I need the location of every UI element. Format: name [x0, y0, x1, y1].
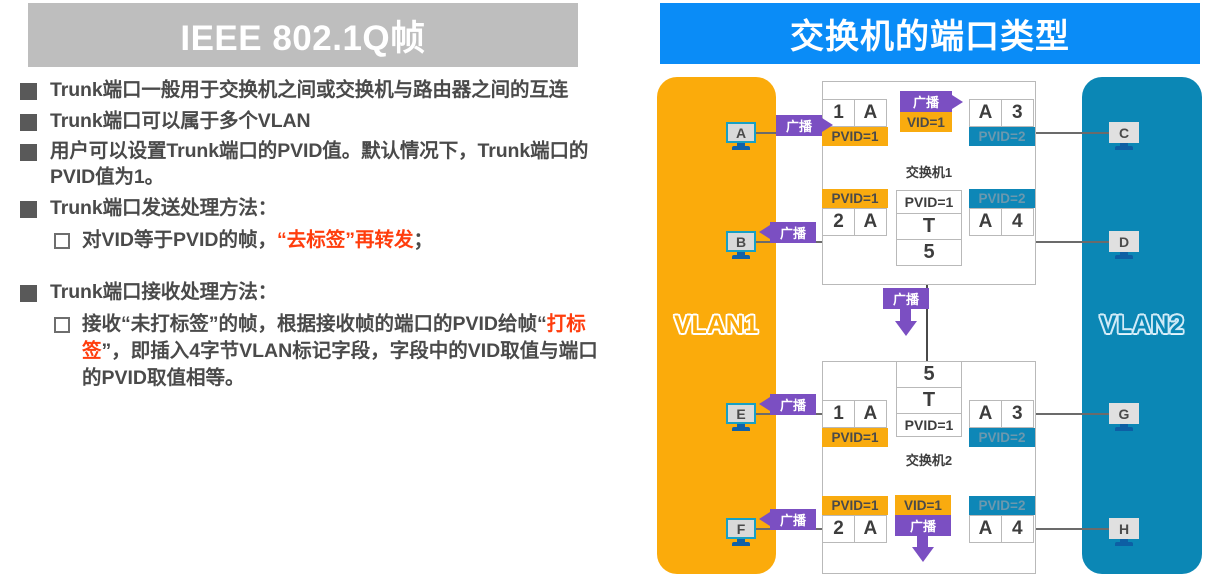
monitor-icon: C: [1109, 122, 1139, 143]
broadcast-tag-e: 广播: [770, 394, 816, 415]
monitor-base: [1115, 542, 1133, 546]
network-diagram: VLAN1 VLAN2 交换机1 1 A: [612, 64, 1212, 583]
broadcast-tag-f: 广播: [770, 509, 816, 530]
right-panel: 交换机的端口类型 VLAN1 VLAN2 交换机1: [612, 0, 1212, 583]
port-cell: 1: [822, 400, 855, 428]
broadcast-tag-trunk: 广播: [883, 288, 929, 309]
switch1-vid-tag: VID=1: [900, 112, 952, 132]
switch2-box: 交换机2 5 T PVID=1 1 A PVID=1 PVID=1 2 A: [822, 361, 1036, 574]
switch2-pvid-bottom-left: PVID=1: [822, 496, 888, 515]
arrow-right-icon: [952, 95, 963, 109]
switch2-port-bottom-left: 2 A: [822, 515, 887, 543]
switch2-port-top-left: 1 A: [822, 400, 887, 428]
monitor-base: [1115, 146, 1133, 150]
bullet-square-icon: [20, 201, 37, 218]
port-cell: A: [969, 208, 1002, 236]
switch1-pvid-bottom-left: PVID=1: [822, 189, 888, 208]
list-item: Trunk端口可以属于多个VLAN: [20, 109, 600, 135]
page-title: IEEE 802.1Q帧: [180, 10, 425, 61]
bullet-text: Trunk端口接收处理方法：: [50, 280, 277, 306]
wire-switch1-to-c: [1030, 132, 1110, 134]
trunk-cell: T: [896, 387, 962, 414]
sub-list-item: 对VID等于PVID的帧，“去标签”再转发；: [54, 227, 600, 254]
diagram-title: 交换机的端口类型: [790, 9, 1070, 58]
arrow-right-icon: [822, 118, 833, 132]
host-d[interactable]: D: [1109, 231, 1139, 259]
sub-bullet-highlight: “去标签”再转发: [277, 229, 414, 251]
left-title-bar: IEEE 802.1Q帧: [28, 3, 578, 67]
wire-switch2-to-g: [1030, 413, 1110, 415]
bullet-square-icon: [20, 83, 37, 100]
diagram-title-bar: 交换机的端口类型: [660, 3, 1200, 64]
list-item: 用户可以设置Trunk端口的PVID值。默认情况下，Trunk端口的PVID值为…: [20, 139, 600, 190]
vlan1-label: VLAN1: [674, 311, 758, 340]
switch1-trunk-stack: PVID=1 T 5: [896, 190, 962, 266]
monitor-base: [732, 146, 750, 150]
monitor-icon: A: [726, 122, 756, 143]
arrow-left-icon: [759, 397, 770, 411]
arrow-left-icon: [759, 512, 770, 526]
bullet-text: Trunk端口可以属于多个VLAN: [50, 109, 310, 135]
port-cell: 2: [822, 208, 855, 236]
slide-root: IEEE 802.1Q帧 Trunk端口一般用于交换机之间或交换机与路由器之间的…: [0, 0, 1212, 583]
switch2-label: 交换机2: [823, 450, 1035, 469]
sub-bullet-text-after: ；: [414, 229, 434, 251]
monitor-icon: F: [726, 518, 756, 539]
bullet-hollow-square-icon: [54, 317, 70, 333]
host-h[interactable]: H: [1109, 518, 1139, 546]
switch2-port-top-right: A 3: [969, 400, 1034, 428]
switch2-pvid-top-right: PVID=2: [969, 428, 1035, 447]
list-item: Trunk端口接收处理方法：: [20, 280, 600, 306]
broadcast-tag-b: 广播: [770, 222, 816, 243]
trunk-cell: 5: [896, 239, 962, 266]
port-cell: 4: [1001, 208, 1034, 236]
monitor-icon: G: [1109, 403, 1139, 424]
sub-bullet-text-before: 对VID等于PVID的帧，: [82, 229, 277, 251]
left-panel: IEEE 802.1Q帧 Trunk端口一般用于交换机之间或交换机与路由器之间的…: [0, 0, 612, 583]
bullet-text: Trunk端口一般用于交换机之间或交换机与路由器之间的互连: [50, 78, 568, 104]
arrow-left-icon: [759, 225, 770, 239]
list-item: Trunk端口一般用于交换机之间或交换机与路由器之间的互连: [20, 78, 600, 104]
sub-bullet-text-after: ”，即插入4字节VLAN标记字段，字段中的VID取值与端口的PVID取值相等。: [82, 340, 598, 389]
switch2-broadcast-tag-bottom: 广播: [895, 515, 951, 536]
bullet-text: Trunk端口发送处理方法：: [50, 196, 277, 222]
monitor-base: [732, 542, 750, 546]
trunk-cell: T: [896, 213, 962, 240]
port-cell: A: [854, 515, 887, 543]
host-g[interactable]: G: [1109, 403, 1139, 431]
sub-bullet-text: 接收“未打标签”的帧，根据接收帧的端口的PVID给帧“打标签”，即插入4字节VL…: [82, 311, 600, 393]
monitor-icon: H: [1109, 518, 1139, 539]
switch1-broadcast-tag-top: 广播: [900, 91, 952, 112]
sub-bullet-text: 对VID等于PVID的帧，“去标签”再转发；: [82, 227, 433, 254]
port-cell: A: [854, 400, 887, 428]
port-cell: A: [854, 208, 887, 236]
sub-list-item: 接收“未打标签”的帧，根据接收帧的端口的PVID给帧“打标签”，即插入4字节VL…: [54, 311, 600, 393]
switch1-port-bottom-right: A 4: [969, 208, 1034, 236]
bullet-text: 用户可以设置Trunk端口的PVID值。默认情况下，Trunk端口的PVID值为…: [50, 139, 600, 190]
sub-bullet-text-before: 接收“未打标签”的帧，根据接收帧的端口的PVID给帧“: [82, 313, 547, 335]
host-c[interactable]: C: [1109, 122, 1139, 150]
switch1-port-top-right: A 3: [969, 99, 1034, 127]
arrow-down-icon: [912, 547, 934, 562]
list-item: Trunk端口发送处理方法：: [20, 196, 600, 222]
switch2-pvid-top-left: PVID=1: [822, 428, 888, 447]
port-cell: 2: [822, 515, 855, 543]
list-spacer: [20, 258, 600, 280]
port-cell: A: [854, 99, 887, 127]
bullet-square-icon: [20, 144, 37, 161]
broadcast-tag-a: 广播: [776, 115, 822, 136]
monitor-icon: B: [726, 231, 756, 252]
switch1-pvid-bottom-right: PVID=2: [969, 189, 1035, 208]
switch2-trunk-stack: 5 T PVID=1: [896, 361, 962, 437]
port-cell: A: [969, 400, 1002, 428]
monitor-base: [1115, 255, 1133, 259]
vlan1-panel: VLAN1: [657, 77, 776, 574]
arrow-down-icon: [895, 321, 917, 336]
bullet-square-icon: [20, 285, 37, 302]
host-e[interactable]: E: [726, 403, 756, 431]
switch1-label: 交换机1: [823, 162, 1035, 181]
vlan2-label: VLAN2: [1100, 311, 1184, 340]
monitor-base: [732, 427, 750, 431]
wire-switch2-to-h: [1030, 528, 1110, 530]
host-f[interactable]: F: [726, 518, 756, 546]
trunk-cell: PVID=1: [896, 413, 962, 437]
vlan2-panel: VLAN2: [1082, 77, 1202, 574]
port-cell: 4: [1001, 515, 1034, 543]
switch2-port-bottom-right: A 4: [969, 515, 1034, 543]
bullet-list: Trunk端口一般用于交换机之间或交换机与路由器之间的互连 Trunk端口可以属…: [20, 78, 600, 397]
host-b[interactable]: B: [726, 231, 756, 259]
port-cell: 3: [1001, 400, 1034, 428]
switch1-pvid-top-right: PVID=2: [969, 127, 1035, 146]
switch2-pvid-bottom-right: PVID=2: [969, 496, 1035, 515]
bullet-square-icon: [20, 114, 37, 131]
monitor-base: [732, 255, 750, 259]
wire-switch1-to-d: [1030, 241, 1110, 243]
trunk-cell: 5: [896, 361, 962, 388]
trunk-cell: PVID=1: [896, 190, 962, 214]
monitor-icon: D: [1109, 231, 1139, 252]
port-cell: A: [969, 99, 1002, 127]
port-cell: A: [969, 515, 1002, 543]
host-a[interactable]: A: [726, 122, 756, 150]
switch1-port-bottom-left: 2 A: [822, 208, 887, 236]
port-cell: 3: [1001, 99, 1034, 127]
monitor-icon: E: [726, 403, 756, 424]
bullet-hollow-square-icon: [54, 233, 70, 249]
switch2-vid-tag: VID=1: [895, 495, 951, 515]
monitor-base: [1115, 427, 1133, 431]
